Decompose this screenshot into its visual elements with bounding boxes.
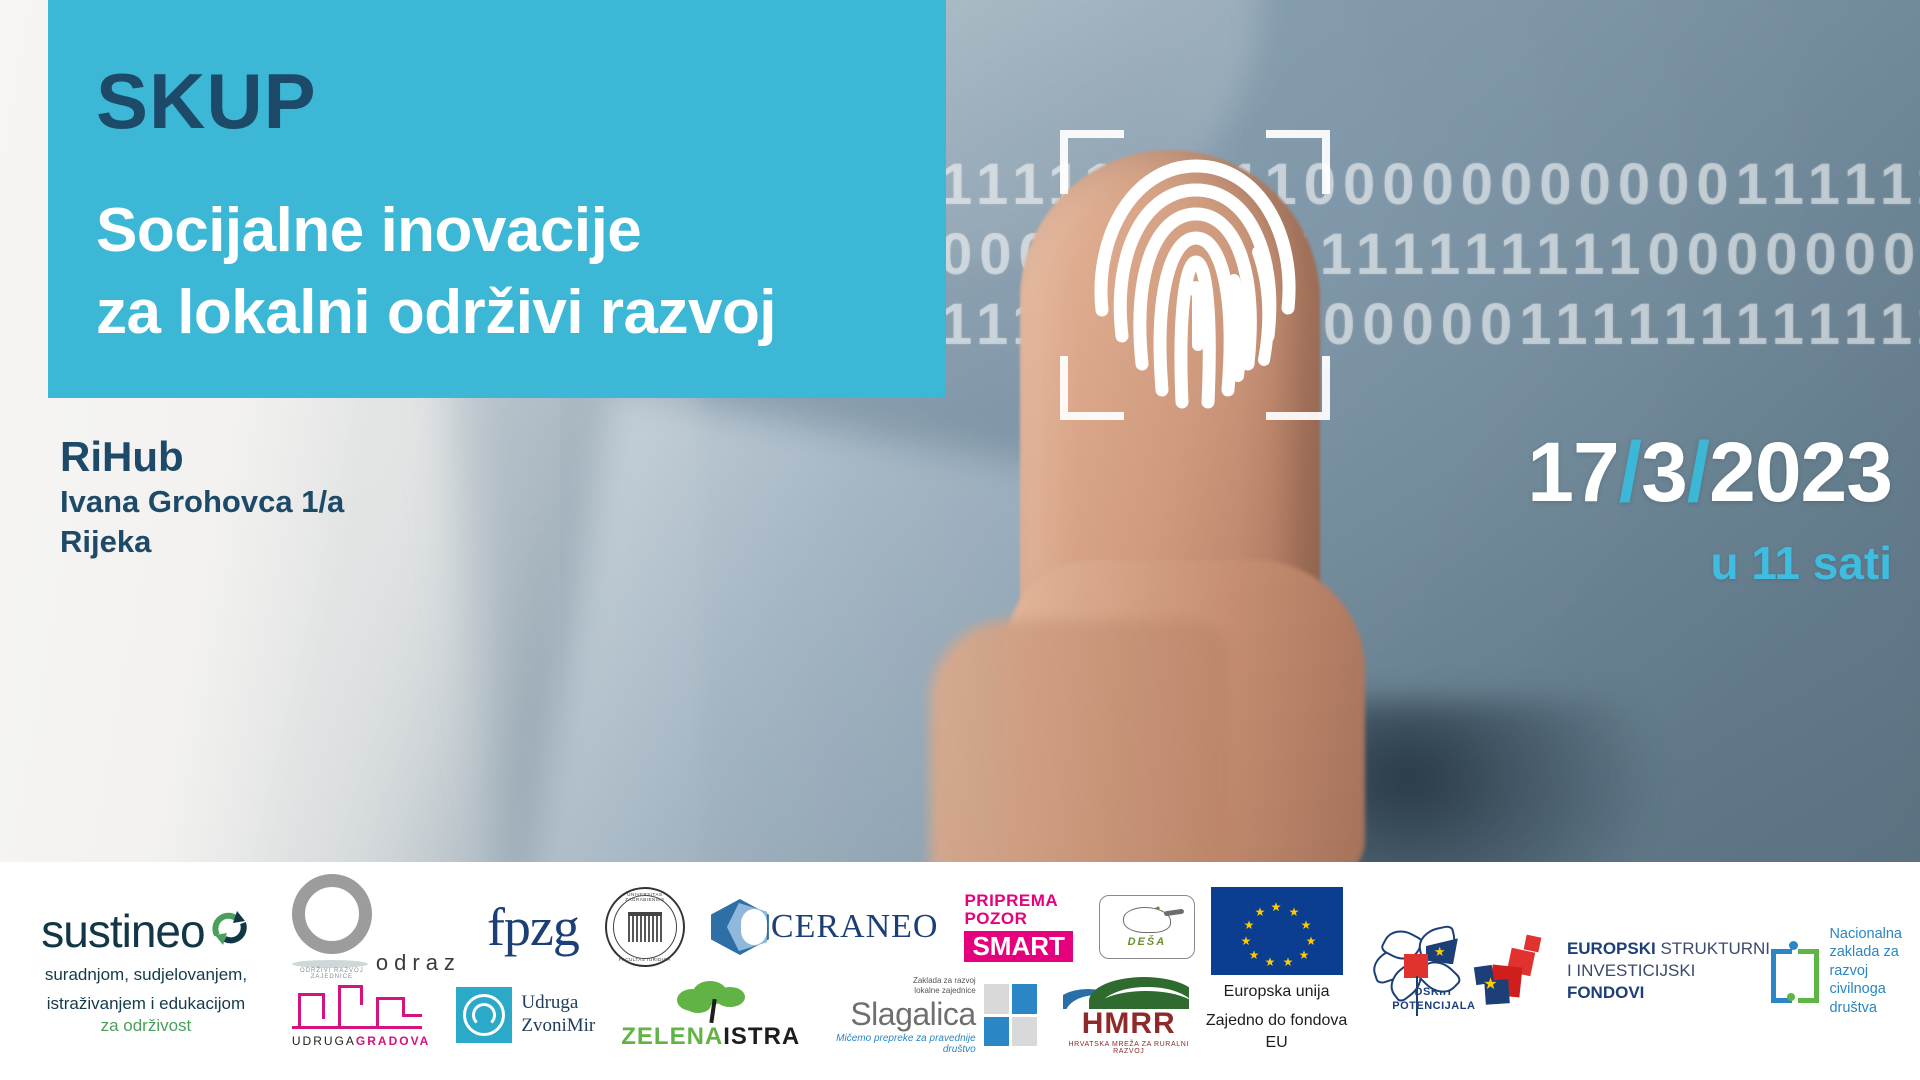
udruga-gradova-name: UDRUGAGRADOVA bbox=[292, 1034, 430, 1048]
hills-icon bbox=[1063, 975, 1189, 1009]
pinwheel-flower-icon: ★ bbox=[1370, 928, 1464, 1006]
esif-blocks-icon: ★ bbox=[1475, 936, 1557, 1006]
logo-slagalica: Zaklada za razvoj lokalne zajednice Slag… bbox=[826, 974, 1036, 1056]
fingers-shape bbox=[930, 620, 1230, 862]
logo-ceraneo: CERANEO bbox=[711, 886, 939, 968]
sustineo-tagline-2: istraživanjem i edukacijom bbox=[41, 993, 250, 1016]
zvonimir-mark-icon bbox=[456, 987, 512, 1043]
logo-razvoj-ljudskih-potencijala: ★ RAZVOJ LJUDSKIH POTENCIJALA bbox=[1358, 928, 1475, 1013]
smart-line2: POZOR bbox=[964, 910, 1072, 928]
banner-eyebrow: SKUP bbox=[96, 62, 317, 140]
datetime-block: 17/3/2023 u 11 sati bbox=[1527, 430, 1892, 586]
eu-caption-2: Zajedno do fondova EU bbox=[1195, 1010, 1358, 1055]
fingerprint-icon bbox=[1088, 140, 1303, 415]
tree-icon bbox=[671, 979, 751, 1021]
desa-name: DEŠA bbox=[1128, 936, 1167, 948]
venue-city: Rijeka bbox=[60, 522, 344, 563]
date-month: 3 bbox=[1641, 425, 1687, 519]
partner-logo-bar: sustineo suradnjom, sudjelovanjem, istra… bbox=[0, 862, 1920, 1080]
date-day: 17 bbox=[1527, 425, 1618, 519]
slagalica-top1: Zaklada za razvoj bbox=[826, 976, 975, 986]
fpzg-name: fpzg bbox=[487, 896, 579, 958]
seal-text-top: UNIVERSITAS ZAGRABIENSIS bbox=[607, 892, 683, 902]
venue-street: Ivana Grohovca 1/a bbox=[60, 482, 344, 523]
hmrr-name: HMRR bbox=[1063, 1009, 1195, 1039]
slagalica-name: Slagalica bbox=[826, 996, 975, 1033]
fingerprint-scanner-icon bbox=[1060, 130, 1330, 420]
university-seal-icon: UNIVERSITAS ZAGRABIENSIS FACULTAS IURIDI… bbox=[605, 887, 685, 967]
logo-smart: PRIPREMA POZOR SMART bbox=[964, 886, 1072, 968]
odraz-ring-icon bbox=[292, 874, 372, 954]
logo-odraz: ODRŽIVI RAZVOJ ZAJEDNICE odraz bbox=[292, 886, 461, 968]
sustineo-wordmark: sustineo bbox=[41, 904, 250, 958]
city-skyline-icon bbox=[292, 983, 422, 1029]
puzzle-icon bbox=[984, 984, 1037, 1046]
event-poster: 1111111111000000000001111111111111111110… bbox=[0, 0, 1920, 1080]
logo-europska-unija: ★ ★ ★ ★ ★ ★ ★ ★ ★ ★ ★ ★ Europska unija Z… bbox=[1195, 887, 1358, 1054]
banner-title: Socijalne inovacije za lokalni održivi r… bbox=[96, 190, 926, 354]
ceraneo-name: CERANEO bbox=[771, 908, 939, 946]
zelena-istra-name: ZELENAISTRA bbox=[621, 1023, 800, 1051]
logo-zelena-istra: ZELENAISTRA bbox=[621, 974, 800, 1056]
logo-zvonimir: Udruga ZvoniMir bbox=[456, 974, 595, 1056]
banner-title-line1: Socijalne inovacije bbox=[96, 190, 926, 272]
eu-flag-icon: ★ ★ ★ ★ ★ ★ ★ ★ ★ ★ ★ ★ bbox=[1211, 887, 1343, 975]
sustineo-tagline-1: suradnjom, sudjelovanjem, bbox=[41, 964, 250, 987]
logo-sustineo: sustineo suradnjom, sudjelovanjem, istra… bbox=[0, 904, 292, 1039]
event-date: 17/3/2023 bbox=[1527, 430, 1892, 514]
desa-frame: DEŠA bbox=[1099, 895, 1195, 959]
date-year: 2023 bbox=[1709, 425, 1892, 519]
zvonimir-name: Udruga ZvoniMir bbox=[521, 992, 595, 1038]
eu-funding-logos: ★ ★ ★ ★ ★ ★ ★ ★ ★ ★ ★ ★ Europska unija Z… bbox=[1195, 887, 1920, 1054]
logo-hmrr: HMRR HRVATSKA MREŽA ZA RURALNI RAZVOJ bbox=[1063, 974, 1195, 1056]
logo-desa: DEŠA bbox=[1099, 886, 1195, 968]
partner-logos-group: ODRŽIVI RAZVOJ ZAJEDNICE odraz fpzg UNIV… bbox=[292, 886, 1195, 1056]
slagalica-top2: lokalne zajednice bbox=[826, 986, 975, 996]
smart-line3: SMART bbox=[964, 931, 1072, 962]
date-separator-2: / bbox=[1687, 425, 1709, 519]
date-separator-1: / bbox=[1619, 425, 1641, 519]
logo-fpzg: fpzg bbox=[487, 886, 579, 968]
logo-nacionalna-zaklada: Nacionalna zaklada za razvoj civilnoga d… bbox=[1771, 925, 1902, 1018]
title-banner: SKUP Socijalne inovacije za lokalni održ… bbox=[48, 0, 946, 398]
hmrr-subtitle: HRVATSKA MREŽA ZA RURALNI RAZVOJ bbox=[1063, 1041, 1195, 1055]
odraz-subtitle: ODRŽIVI RAZVOJ ZAJEDNICE bbox=[292, 968, 372, 980]
ceraneo-mark-icon bbox=[711, 899, 769, 955]
seal-text-bottom: FACULTAS IURIDICA bbox=[607, 957, 683, 962]
logo-pravni-fakultet: UNIVERSITAS ZAGRABIENSIS FACULTAS IURIDI… bbox=[605, 886, 685, 968]
logo-udruga-gradova: UDRUGAGRADOVA bbox=[292, 974, 430, 1056]
banner-title-line2: za lokalni održivi razvoj bbox=[96, 272, 926, 354]
logo-esif: ★ EUROPSKI STRUKTURNI I INVESTICIJSKI FO… bbox=[1475, 936, 1771, 1006]
event-time: u 11 sati bbox=[1527, 540, 1892, 586]
smart-line1: PRIPREMA bbox=[964, 892, 1072, 910]
esif-line1: EUROPSKI STRUKTURNI bbox=[1567, 938, 1772, 960]
recycle-icon bbox=[209, 904, 251, 958]
dove-icon bbox=[1123, 907, 1171, 933]
sustineo-tagline-3: za održivost bbox=[41, 1015, 250, 1038]
nacionalna-zaklada-text: Nacionalna zaklada za razvoj civilnoga d… bbox=[1829, 925, 1902, 1018]
slagalica-slogan: Mičemo prepreke za pravednije društvo bbox=[826, 1033, 975, 1055]
esif-line2: I INVESTICIJSKI FONDOVI bbox=[1567, 960, 1772, 1004]
bracket-icon bbox=[1771, 941, 1819, 1001]
eu-caption-1: Europska unija bbox=[1195, 981, 1358, 1003]
venue-block: RiHub Ivana Grohovca 1/a Rijeka bbox=[60, 432, 344, 563]
sustineo-name: sustineo bbox=[41, 904, 204, 958]
venue-name: RiHub bbox=[60, 432, 344, 482]
